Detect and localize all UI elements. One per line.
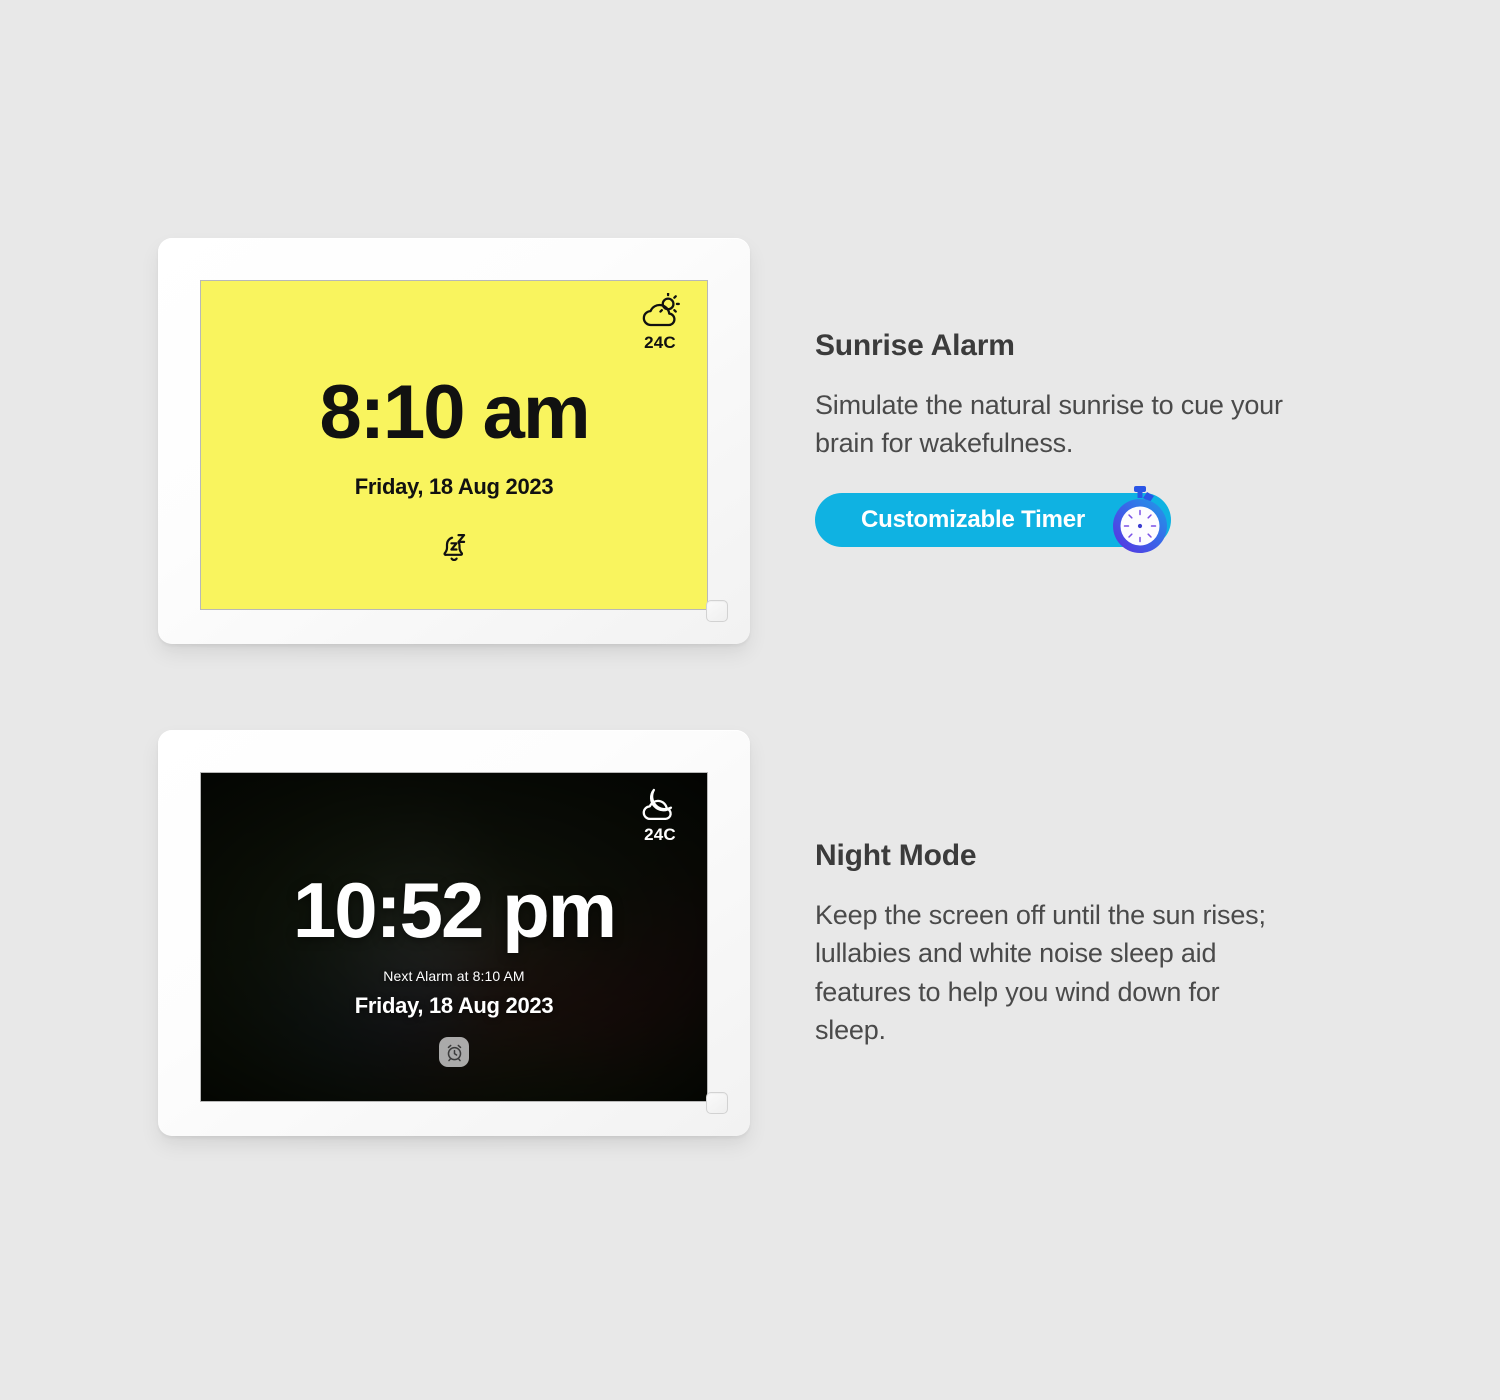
- weather-widget-day: 24C: [637, 293, 683, 351]
- weather-widget-night: 24C: [637, 785, 683, 843]
- device-screen-night[interactable]: 24C 10:52 pm Next Alarm at 8:10 AM Frida…: [200, 772, 708, 1102]
- device-frame-day[interactable]: 24C 8:10 am Friday, 18 Aug 2023: [158, 238, 750, 644]
- alarm-clock-icon[interactable]: [439, 1037, 469, 1067]
- bell-snooze-icon[interactable]: [437, 531, 471, 570]
- clock-time-night: 10:52 pm: [201, 865, 707, 956]
- device-sensor-button-night[interactable]: [706, 1092, 728, 1114]
- clock-date-day: Friday, 18 Aug 2023: [201, 474, 707, 500]
- feature-night-mode: 24C 10:52 pm Next Alarm at 8:10 AM Frida…: [0, 0, 1500, 1400]
- clock-date-night: Friday, 18 Aug 2023: [201, 993, 707, 1019]
- page-stage: 24C 8:10 am Friday, 18 Aug 2023: [0, 0, 1500, 1400]
- device-screen-day[interactable]: 24C 8:10 am Friday, 18 Aug 2023: [200, 280, 708, 610]
- sun-behind-cloud-icon: [637, 293, 683, 333]
- weather-temperature-night: 24C: [644, 826, 676, 843]
- copy-night-mode: Night Mode Keep the screen off until the…: [815, 838, 1335, 1049]
- clock-status-day: [201, 531, 707, 570]
- moon-behind-cloud-icon: [637, 785, 683, 825]
- weather-temperature-day: 24C: [644, 334, 676, 351]
- next-alarm-label: Next Alarm at 8:10 AM: [201, 968, 707, 984]
- feature-body-night: Keep the screen off until the sun rises;…: [815, 896, 1285, 1049]
- clock-status-night: [201, 1037, 707, 1067]
- feature-title-night: Night Mode: [815, 838, 1335, 874]
- clock-time-day: 8:10 am: [201, 369, 707, 456]
- device-frame-night[interactable]: 24C 10:52 pm Next Alarm at 8:10 AM Frida…: [158, 730, 750, 1136]
